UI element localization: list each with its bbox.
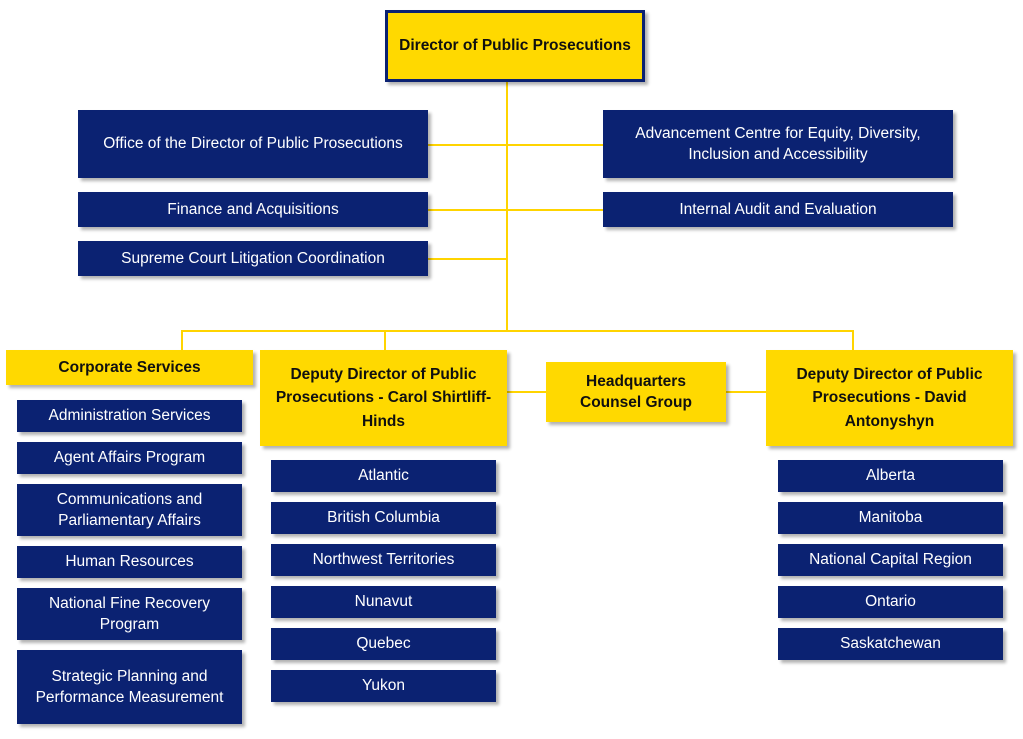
box-corporate-services-label: Corporate Services [14, 357, 245, 378]
box-national-fine-recovery-program[interactable]: National Fine Recovery Program [17, 588, 242, 640]
connector-drop-david [852, 330, 854, 350]
box-ddpp-carol-shirtliff-hinds-label: Deputy Director of Public Prosecutions -… [268, 363, 499, 433]
box-national-capital-region-label: National Capital Region [786, 549, 995, 570]
box-atlantic[interactable]: Atlantic [271, 460, 496, 492]
box-headquarters-counsel-group-label: Headquarters Counsel Group [554, 371, 718, 414]
box-national-fine-recovery-program-label: National Fine Recovery Program [25, 593, 234, 636]
box-british-columbia[interactable]: British Columbia [271, 502, 496, 534]
box-ddpp-david-antonyshyn[interactable]: Deputy Director of Public Prosecutions -… [766, 350, 1013, 446]
box-quebec-label: Quebec [279, 633, 488, 654]
box-communications-and-parliamentary-affairs-label: Communications and Parliamentary Affairs [25, 489, 234, 532]
connector-left-3 [428, 258, 507, 260]
connector-left-1 [428, 144, 507, 146]
box-communications-and-parliamentary-affairs[interactable]: Communications and Parliamentary Affairs [17, 484, 242, 536]
box-internal-audit-and-evaluation-label: Internal Audit and Evaluation [611, 199, 945, 220]
connector-spine-vertical [506, 81, 508, 330]
box-manitoba-label: Manitoba [786, 507, 995, 528]
connector-hq-left [506, 391, 546, 393]
box-advancement-centre[interactable]: Advancement Centre for Equity, Diversity… [603, 110, 953, 178]
box-northwest-territories-label: Northwest Territories [279, 549, 488, 570]
box-strategic-planning-and-performance-measurement-label: Strategic Planning and Performance Measu… [25, 666, 234, 709]
connector-drop-carol [384, 330, 386, 350]
box-manitoba[interactable]: Manitoba [778, 502, 1003, 534]
connector-hq-right [722, 391, 767, 393]
connector-right-1 [506, 144, 603, 146]
box-corporate-services[interactable]: Corporate Services [6, 350, 253, 385]
box-office-of-the-director-label: Office of the Director of Public Prosecu… [86, 133, 420, 154]
connector-right-2 [506, 209, 603, 211]
box-atlantic-label: Atlantic [279, 465, 488, 486]
box-finance-and-acquisitions-label: Finance and Acquisitions [86, 199, 420, 220]
box-administration-services-label: Administration Services [25, 405, 234, 426]
box-director-of-public-prosecutions[interactable]: Director of Public Prosecutions [385, 10, 645, 82]
org-chart: Director of Public Prosecutions Office o… [0, 0, 1023, 739]
box-yukon[interactable]: Yukon [271, 670, 496, 702]
box-administration-services[interactable]: Administration Services [17, 400, 242, 432]
box-advancement-centre-label: Advancement Centre for Equity, Diversity… [611, 123, 945, 166]
connector-drop-corporate [181, 330, 183, 350]
box-alberta[interactable]: Alberta [778, 460, 1003, 492]
box-national-capital-region[interactable]: National Capital Region [778, 544, 1003, 576]
box-human-resources-label: Human Resources [25, 551, 234, 572]
box-yukon-label: Yukon [279, 675, 488, 696]
box-director-of-public-prosecutions-label: Director of Public Prosecutions [396, 35, 634, 56]
box-finance-and-acquisitions[interactable]: Finance and Acquisitions [78, 192, 428, 227]
box-supreme-court-litigation-coordination[interactable]: Supreme Court Litigation Coordination [78, 241, 428, 276]
box-agent-affairs-program-label: Agent Affairs Program [25, 447, 234, 468]
box-ontario-label: Ontario [786, 591, 995, 612]
box-agent-affairs-program[interactable]: Agent Affairs Program [17, 442, 242, 474]
box-human-resources[interactable]: Human Resources [17, 546, 242, 578]
box-strategic-planning-and-performance-measurement[interactable]: Strategic Planning and Performance Measu… [17, 650, 242, 724]
box-supreme-court-litigation-coordination-label: Supreme Court Litigation Coordination [86, 248, 420, 269]
box-nunavut[interactable]: Nunavut [271, 586, 496, 618]
box-ddpp-carol-shirtliff-hinds[interactable]: Deputy Director of Public Prosecutions -… [260, 350, 507, 446]
box-british-columbia-label: British Columbia [279, 507, 488, 528]
box-quebec[interactable]: Quebec [271, 628, 496, 660]
box-ontario[interactable]: Ontario [778, 586, 1003, 618]
box-headquarters-counsel-group[interactable]: Headquarters Counsel Group [546, 362, 726, 422]
connector-distribution-bar [181, 330, 854, 332]
box-saskatchewan-label: Saskatchewan [786, 633, 995, 654]
connector-left-2 [428, 209, 507, 211]
box-ddpp-david-antonyshyn-label: Deputy Director of Public Prosecutions -… [774, 363, 1005, 433]
box-internal-audit-and-evaluation[interactable]: Internal Audit and Evaluation [603, 192, 953, 227]
box-alberta-label: Alberta [786, 465, 995, 486]
box-nunavut-label: Nunavut [279, 591, 488, 612]
box-northwest-territories[interactable]: Northwest Territories [271, 544, 496, 576]
box-saskatchewan[interactable]: Saskatchewan [778, 628, 1003, 660]
box-office-of-the-director[interactable]: Office of the Director of Public Prosecu… [78, 110, 428, 178]
